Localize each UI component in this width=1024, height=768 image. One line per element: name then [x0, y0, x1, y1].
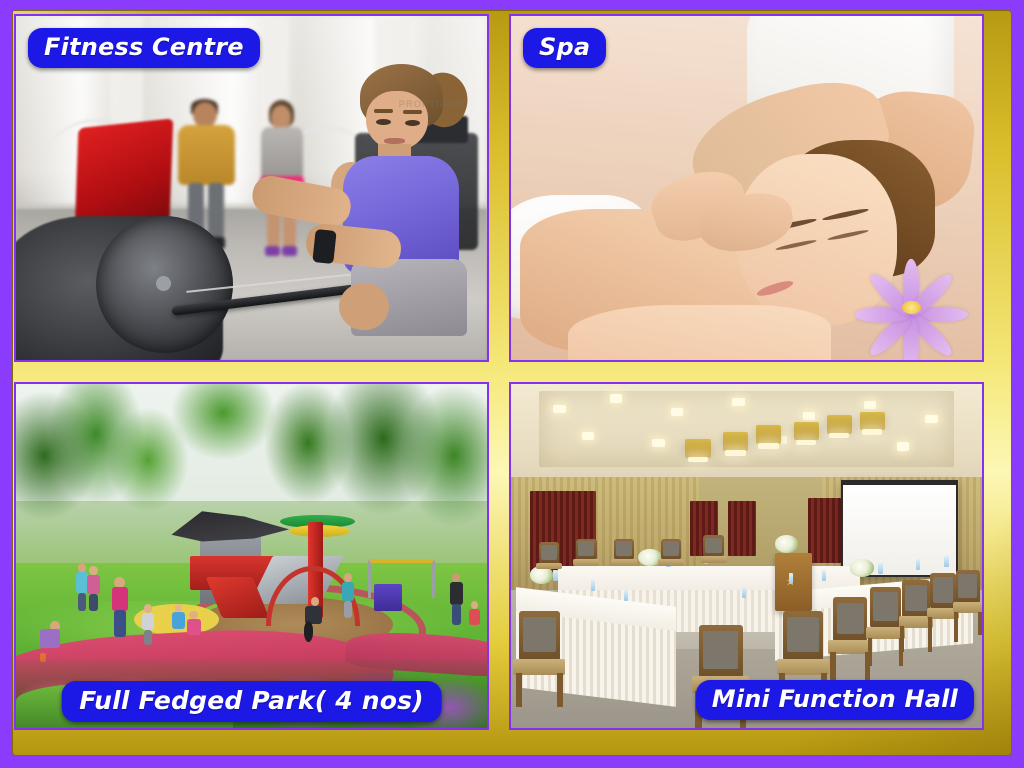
chair: [535, 542, 563, 583]
pendant-light: [723, 432, 748, 451]
weight-bench: [75, 118, 174, 230]
person-adult: [341, 573, 355, 618]
person-adult: [449, 573, 463, 625]
park-photo: [16, 384, 487, 728]
function-hall-photo: [511, 384, 982, 728]
pendant-light: [827, 415, 852, 434]
panel-spa[interactable]: Spa: [509, 14, 984, 362]
chair: [699, 535, 727, 576]
chair: [511, 611, 568, 707]
blue-play-panel: [374, 584, 402, 612]
photo-grid: PROPTIGER Fitness Centre: [14, 14, 984, 730]
label-mini-function-hall[interactable]: Mini Function Hall: [696, 680, 974, 720]
curtain: [808, 498, 841, 563]
person-child: [171, 604, 185, 642]
label-fitness-centre[interactable]: Fitness Centre: [28, 28, 260, 68]
person-crouching: [40, 618, 64, 663]
proptiger-watermark: PROPTIGER: [399, 99, 464, 109]
pendant-light: [794, 422, 819, 441]
chair: [572, 539, 600, 580]
flower-arrangement: [775, 535, 799, 552]
person-child: [141, 604, 155, 645]
amenities-collage: PROPTIGER Fitness Centre: [0, 0, 1024, 768]
pendant-light: [685, 439, 710, 458]
flower-arrangement: [850, 559, 874, 576]
ceiling-recess: [539, 391, 953, 467]
label-full-fedged-park[interactable]: Full Fedged Park( 4 nos): [61, 681, 442, 722]
person-child: [468, 601, 480, 635]
person-wheelchair: [303, 597, 324, 642]
pendant-light: [756, 425, 781, 444]
panel-mini-function-hall[interactable]: Mini Function Hall: [509, 382, 984, 730]
chair: [951, 570, 982, 635]
curtain: [728, 501, 756, 556]
pendant-light: [860, 412, 885, 431]
chair: [610, 539, 638, 580]
chair: [657, 539, 685, 580]
label-spa[interactable]: Spa: [523, 28, 606, 68]
client-forearm: [568, 305, 832, 360]
lotus-flower-icon: [850, 260, 972, 353]
rowing-machine-flywheel: [96, 216, 233, 354]
person-child: [186, 611, 202, 645]
panel-park[interactable]: Full Fedged Park( 4 nos): [14, 382, 489, 730]
panel-fitness-centre[interactable]: PROPTIGER Fitness Centre: [14, 14, 489, 362]
podium: [775, 553, 813, 611]
person-adult: [87, 566, 101, 611]
person-adult: [110, 577, 129, 639]
